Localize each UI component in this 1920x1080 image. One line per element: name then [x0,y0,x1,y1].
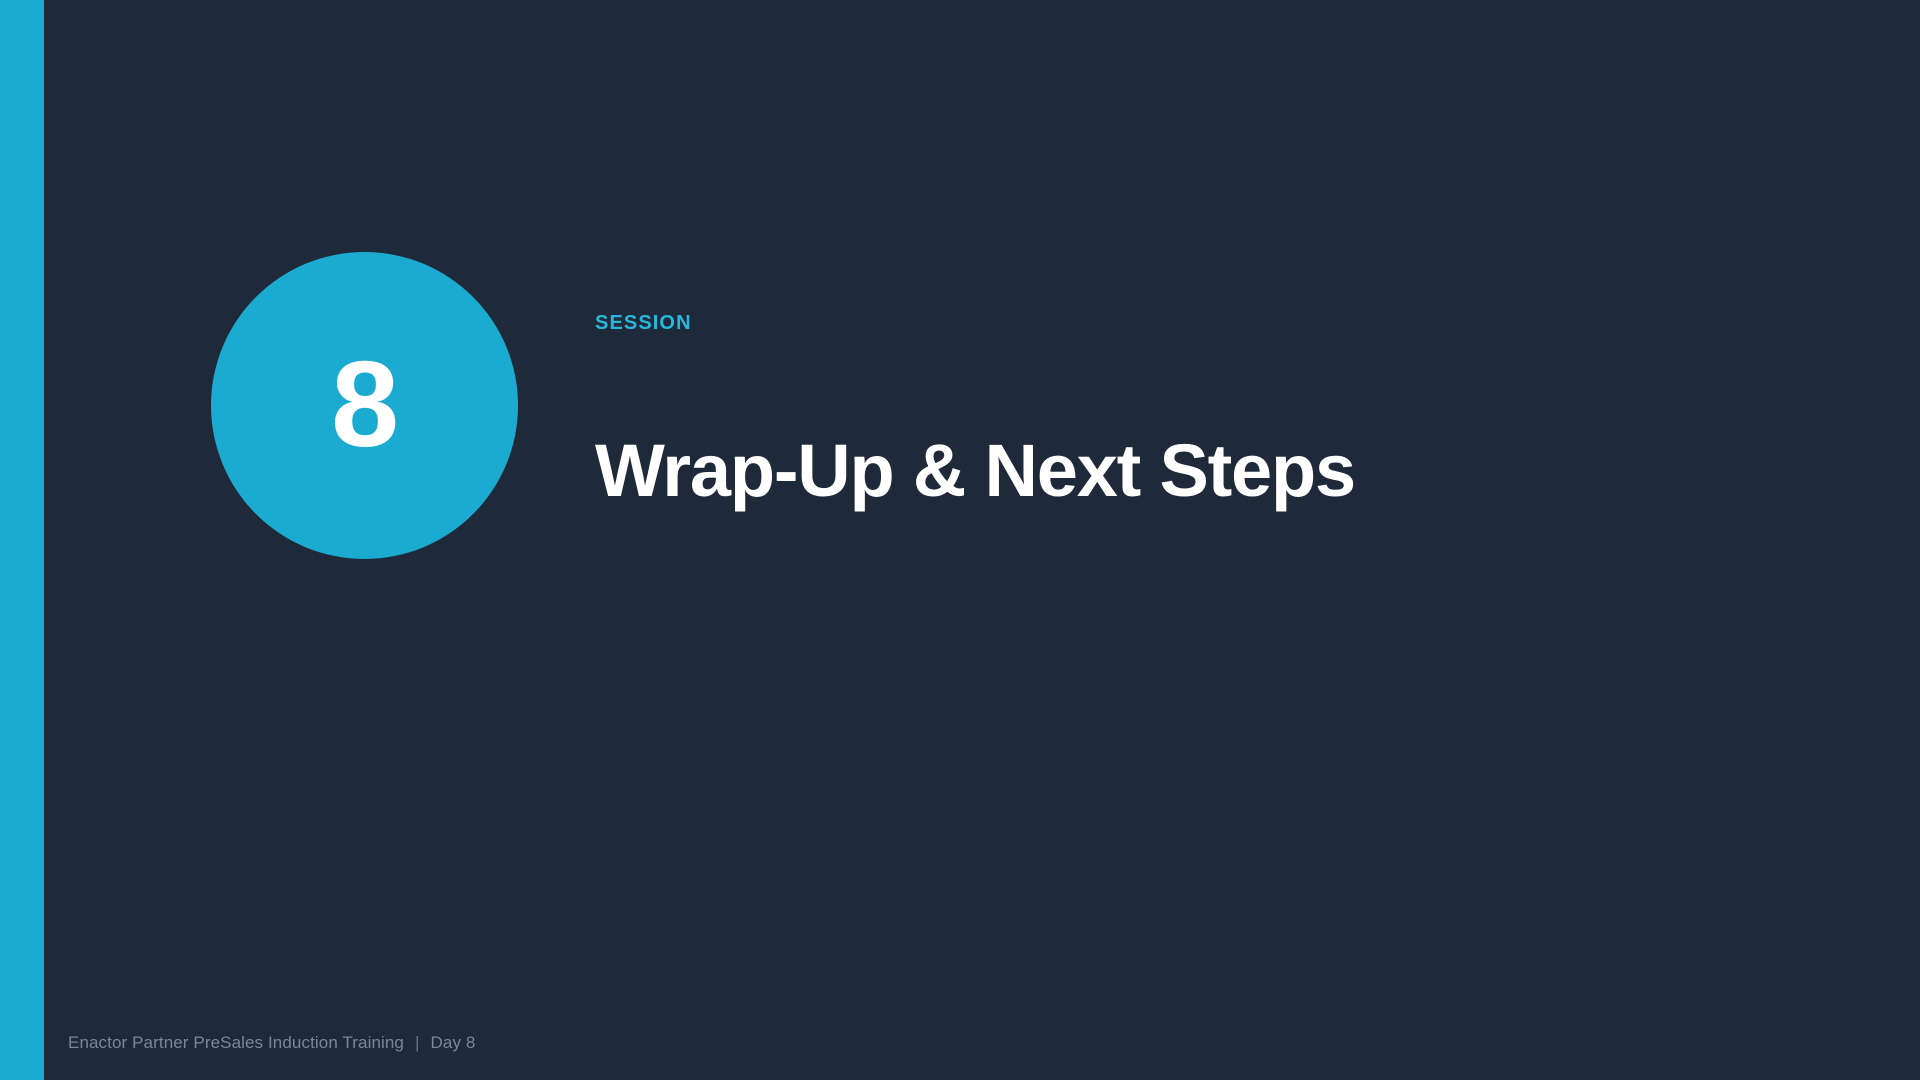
headline-block: SESSION Wrap-Up & Next Steps [595,310,1795,510]
slide-footer: Enactor Partner PreSales Induction Train… [68,1032,475,1054]
left-accent-bar [0,0,44,1080]
presentation-slide: 8 SESSION Wrap-Up & Next Steps Enactor P… [0,0,1920,1080]
footer-day-label: Day 8 [431,1032,476,1054]
session-number-label: 8 [331,343,398,465]
session-eyebrow-label: SESSION [595,310,1795,336]
page-title: Wrap-Up & Next Steps [595,432,1795,510]
footer-course-name: Enactor Partner PreSales Induction Train… [68,1032,404,1054]
session-number-badge: 8 [211,252,518,559]
footer-separator: | [404,1032,431,1054]
